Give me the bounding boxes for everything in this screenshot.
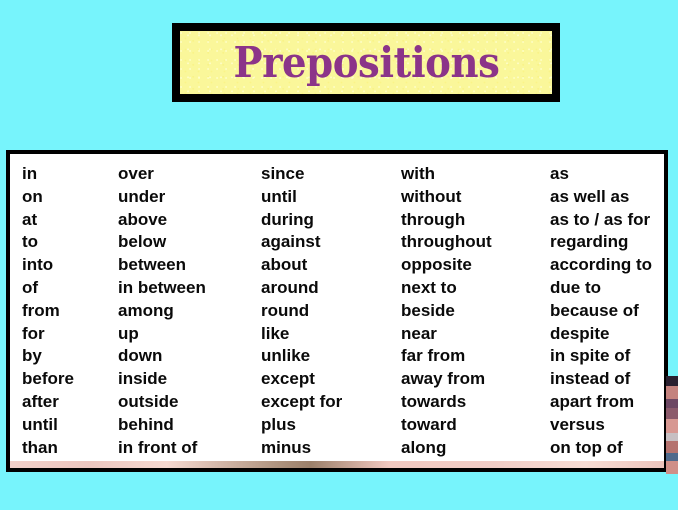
- preposition-word: near: [401, 323, 492, 346]
- preposition-word: apart from: [550, 391, 652, 414]
- preposition-word: up: [118, 323, 206, 346]
- preposition-word: by: [22, 345, 74, 368]
- preposition-word: over: [118, 163, 206, 186]
- preposition-word: between: [118, 254, 206, 277]
- preposition-word: minus: [261, 437, 342, 460]
- preposition-word: as to / as for: [550, 209, 652, 232]
- preposition-word: beside: [401, 300, 492, 323]
- preposition-word: at: [22, 209, 74, 232]
- preposition-word: throughout: [401, 231, 492, 254]
- preposition-word: unlike: [261, 345, 342, 368]
- preposition-word: except: [261, 368, 342, 391]
- preposition-word: in: [22, 163, 74, 186]
- panel-bottom-bleed: [10, 461, 664, 468]
- preposition-word: down: [118, 345, 206, 368]
- preposition-word: inside: [118, 368, 206, 391]
- preposition-word: despite: [550, 323, 652, 346]
- preposition-word: until: [261, 186, 342, 209]
- preposition-columns: in on at to into of from for by before a…: [10, 154, 664, 468]
- preposition-word: until: [22, 414, 74, 437]
- preposition-word: according to: [550, 254, 652, 277]
- preposition-word: against: [261, 231, 342, 254]
- preposition-word: on top of: [550, 437, 652, 460]
- preposition-word: since: [261, 163, 342, 186]
- preposition-word: from: [22, 300, 74, 323]
- preposition-word: along: [401, 437, 492, 460]
- preposition-word: around: [261, 277, 342, 300]
- slide-canvas: Prepositions in on at to into of from fo…: [0, 0, 678, 510]
- title-banner-inner: Prepositions: [180, 31, 552, 94]
- preposition-word: with: [401, 163, 492, 186]
- preposition-word: than: [22, 437, 74, 460]
- preposition-column-3: since until during against about around …: [261, 163, 342, 459]
- preposition-word: plus: [261, 414, 342, 437]
- preposition-word: towards: [401, 391, 492, 414]
- preposition-word: toward: [401, 414, 492, 437]
- preposition-word: outside: [118, 391, 206, 414]
- preposition-word: because of: [550, 300, 652, 323]
- preposition-word: in spite of: [550, 345, 652, 368]
- preposition-word: under: [118, 186, 206, 209]
- title-banner: Prepositions: [172, 23, 560, 102]
- preposition-word: to: [22, 231, 74, 254]
- preposition-word: before: [22, 368, 74, 391]
- preposition-word: of: [22, 277, 74, 300]
- preposition-column-5: as as well as as to / as for regarding a…: [550, 163, 652, 459]
- preposition-word: above: [118, 209, 206, 232]
- preposition-word: for: [22, 323, 74, 346]
- preposition-list-surface: in on at to into of from for by before a…: [10, 154, 664, 468]
- preposition-column-4: with without through throughout opposite…: [401, 163, 492, 459]
- preposition-word: regarding: [550, 231, 652, 254]
- preposition-word: away from: [401, 368, 492, 391]
- preposition-word: among: [118, 300, 206, 323]
- preposition-word: after: [22, 391, 74, 414]
- preposition-word: in front of: [118, 437, 206, 460]
- preposition-word: opposite: [401, 254, 492, 277]
- preposition-word: behind: [118, 414, 206, 437]
- page-title: Prepositions: [233, 42, 499, 84]
- preposition-word: during: [261, 209, 342, 232]
- preposition-word: due to: [550, 277, 652, 300]
- preposition-word: about: [261, 254, 342, 277]
- preposition-word: below: [118, 231, 206, 254]
- preposition-word: as: [550, 163, 652, 186]
- preposition-list-panel: in on at to into of from for by before a…: [6, 150, 668, 472]
- preposition-word: round: [261, 300, 342, 323]
- preposition-word: like: [261, 323, 342, 346]
- preposition-word: in between: [118, 277, 206, 300]
- preposition-word: far from: [401, 345, 492, 368]
- preposition-word: except for: [261, 391, 342, 414]
- clipped-edge-image: [666, 376, 678, 474]
- preposition-word: as well as: [550, 186, 652, 209]
- preposition-word: instead of: [550, 368, 652, 391]
- preposition-column-2: over under above below between in betwee…: [118, 163, 206, 459]
- preposition-word: versus: [550, 414, 652, 437]
- preposition-word: into: [22, 254, 74, 277]
- preposition-word: through: [401, 209, 492, 232]
- preposition-word: next to: [401, 277, 492, 300]
- preposition-column-1: in on at to into of from for by before a…: [22, 163, 74, 459]
- preposition-word: without: [401, 186, 492, 209]
- preposition-word: on: [22, 186, 74, 209]
